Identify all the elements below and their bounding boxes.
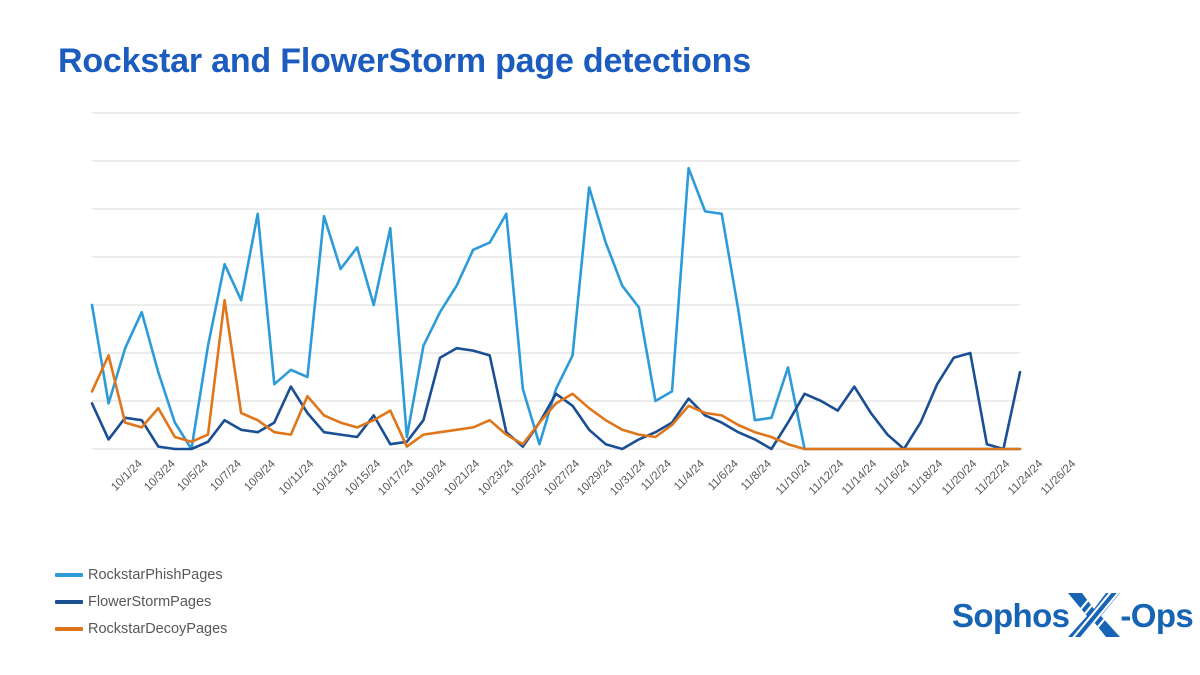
x-axis-tick-label: 10/23/24 bbox=[476, 458, 516, 498]
x-axis-tick-label: 11/26/24 bbox=[1039, 458, 1079, 498]
x-axis-tick-label: 10/1/24 bbox=[109, 458, 145, 494]
chart-legend: RockstarPhishPages FlowerStormPages Rock… bbox=[55, 561, 227, 642]
x-axis-tick-label: 11/20/24 bbox=[939, 458, 979, 498]
slide-canvas: Rockstar and FlowerStorm page detections… bbox=[0, 0, 1200, 675]
x-axis-tick-label: 11/14/24 bbox=[840, 458, 880, 498]
legend-swatch-rockstarphishpages bbox=[55, 573, 83, 577]
x-axis-tick-label: 10/5/24 bbox=[176, 458, 212, 494]
legend-item[interactable]: RockstarPhishPages bbox=[55, 561, 227, 588]
x-axis-tick-label: 11/10/24 bbox=[774, 458, 814, 498]
legend-label: RockstarDecoyPages bbox=[88, 621, 227, 637]
x-axis-tick-label: 10/13/24 bbox=[310, 458, 350, 498]
logo-text-ops: -Ops bbox=[1120, 599, 1193, 632]
x-axis-tick-label: 11/16/24 bbox=[873, 458, 913, 498]
x-axis-tick-label: 10/3/24 bbox=[142, 458, 178, 494]
x-axis-tick-label: 10/11/24 bbox=[277, 458, 317, 498]
legend-label: RockstarPhishPages bbox=[88, 567, 223, 583]
legend-item[interactable]: FlowerStormPages bbox=[55, 588, 227, 615]
x-axis-tick-label: 11/22/24 bbox=[973, 458, 1013, 498]
sophos-x-ops-logo: Sophos -Ops bbox=[952, 592, 1193, 638]
x-axis-tick-label: 11/12/24 bbox=[807, 458, 847, 498]
x-axis-tick-label: 11/18/24 bbox=[906, 458, 946, 498]
x-axis-tick-label: 10/19/24 bbox=[409, 458, 449, 498]
x-axis-tick-label: 11/4/24 bbox=[672, 458, 707, 493]
legend-swatch-flowerstormpages bbox=[55, 600, 83, 604]
x-axis-tick-label: 11/8/24 bbox=[739, 458, 774, 493]
x-axis-tick-label: 10/31/24 bbox=[608, 458, 648, 498]
x-axis-tick-label: 10/21/24 bbox=[443, 458, 483, 498]
legend-item[interactable]: RockstarDecoyPages bbox=[55, 615, 227, 642]
sophos-x-ops-x-icon bbox=[1066, 591, 1122, 639]
x-axis-tick-label: 11/6/24 bbox=[706, 458, 741, 493]
logo-text-sophos: Sophos bbox=[952, 599, 1069, 632]
x-axis-tick-label: 10/29/24 bbox=[575, 458, 615, 498]
legend-swatch-rockstardecoypages bbox=[55, 627, 83, 631]
x-axis-tick-label: 10/17/24 bbox=[376, 458, 416, 498]
legend-label: FlowerStormPages bbox=[88, 594, 211, 610]
x-axis-tick-label: 11/24/24 bbox=[1006, 458, 1046, 498]
x-axis-tick-label: 10/15/24 bbox=[343, 458, 383, 498]
x-axis-tick-label: 10/7/24 bbox=[209, 458, 245, 494]
x-axis-tick-label: 10/9/24 bbox=[242, 458, 278, 494]
